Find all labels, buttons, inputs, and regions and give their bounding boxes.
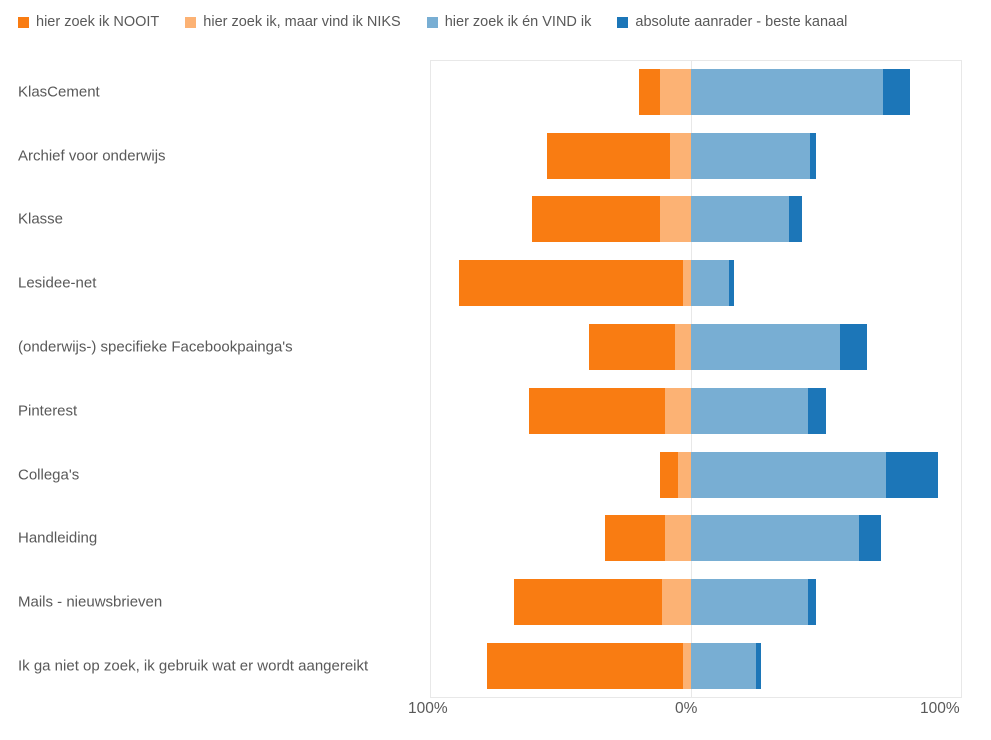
bar-row: Archief voor onderwijs <box>0 124 991 188</box>
bar-row: Mails - nieuwsbrieven <box>0 570 991 634</box>
bar-row: Ik ga niet op zoek, ik gebruik wat er wo… <box>0 634 991 698</box>
bar-segment[interactable] <box>691 324 840 370</box>
bar-segment[interactable] <box>660 69 691 115</box>
stacked-bar[interactable] <box>459 260 735 306</box>
x-axis: 100% 0% 100% <box>0 700 991 734</box>
legend-item-label: hier zoek ik, maar vind ik NIKS <box>203 15 400 30</box>
legend-item-label: hier zoek ik én VIND ik <box>445 15 592 30</box>
bar-segment[interactable] <box>691 388 808 434</box>
category-label: Handleiding <box>18 530 97 547</box>
bar-segment[interactable] <box>670 133 691 179</box>
category-label: Lesidee-net <box>18 275 96 292</box>
bar-segment[interactable] <box>808 579 816 625</box>
bar-segment[interactable] <box>665 388 691 434</box>
bar-row: Pinterest <box>0 379 991 443</box>
bar-segment[interactable] <box>639 69 660 115</box>
bar-segment[interactable] <box>840 324 867 370</box>
bar-segment[interactable] <box>691 133 810 179</box>
bar-segment[interactable] <box>691 515 859 561</box>
category-label: Mails - nieuwsbrieven <box>18 594 162 611</box>
bar-segment[interactable] <box>691 260 729 306</box>
legend-swatch-icon <box>617 17 628 28</box>
stacked-bar[interactable] <box>547 133 815 179</box>
bar-segment[interactable] <box>529 388 665 434</box>
bar-segment[interactable] <box>547 133 670 179</box>
bar-rows: KlasCementArchief voor onderwijsKlasseLe… <box>0 60 991 698</box>
axis-tick-right: 100% <box>920 700 960 718</box>
bar-segment[interactable] <box>665 515 691 561</box>
bar-segment[interactable] <box>756 643 761 689</box>
bar-row: KlasCement <box>0 60 991 124</box>
bar-segment[interactable] <box>729 260 734 306</box>
legend-item-label: hier zoek ik NOOIT <box>36 15 159 30</box>
bar-segment[interactable] <box>859 515 881 561</box>
bar-row: Lesidee-net <box>0 251 991 315</box>
category-label: KlasCement <box>18 83 100 100</box>
bar-row: Handleiding <box>0 507 991 571</box>
category-label: Archief voor onderwijs <box>18 147 166 164</box>
category-label: Ik ga niet op zoek, ik gebruik wat er wo… <box>18 658 368 675</box>
bar-segment[interactable] <box>808 388 827 434</box>
bar-segment[interactable] <box>691 196 789 242</box>
legend-item[interactable]: hier zoek ik, maar vind ik NIKS <box>185 15 400 30</box>
legend-swatch-icon <box>185 17 196 28</box>
bar-segment[interactable] <box>691 643 756 689</box>
bar-segment[interactable] <box>683 260 691 306</box>
legend-item[interactable]: hier zoek ik NOOIT <box>18 15 159 30</box>
bar-segment[interactable] <box>660 452 678 498</box>
bar-segment[interactable] <box>691 69 883 115</box>
stacked-bar[interactable] <box>605 515 881 561</box>
bar-segment[interactable] <box>487 643 683 689</box>
legend-item[interactable]: hier zoek ik én VIND ik <box>427 15 592 30</box>
legend-swatch-icon <box>18 17 29 28</box>
bar-segment[interactable] <box>810 133 815 179</box>
stacked-bar[interactable] <box>514 579 816 625</box>
bar-segment[interactable] <box>691 452 886 498</box>
bar-segment[interactable] <box>605 515 665 561</box>
stacked-bar[interactable] <box>639 69 911 115</box>
legend-swatch-icon <box>427 17 438 28</box>
stacked-bar[interactable] <box>532 196 802 242</box>
axis-tick-left: 100% <box>408 700 448 718</box>
stacked-bar[interactable] <box>529 388 826 434</box>
diverging-bar-chart: hier zoek ik NOOIThier zoek ik, maar vin… <box>0 0 991 740</box>
category-label: (onderwijs-) specifieke Facebookpainga's <box>18 339 293 356</box>
legend-item-label: absolute aanrader - beste kanaal <box>635 15 847 30</box>
bar-segment[interactable] <box>691 579 808 625</box>
bar-row: (onderwijs-) specifieke Facebookpainga's <box>0 315 991 379</box>
bar-segment[interactable] <box>514 579 663 625</box>
category-label: Collega's <box>18 466 79 483</box>
bar-segment[interactable] <box>678 452 691 498</box>
stacked-bar[interactable] <box>589 324 867 370</box>
bar-row: Klasse <box>0 188 991 252</box>
bar-segment[interactable] <box>662 579 691 625</box>
bar-segment[interactable] <box>789 196 803 242</box>
bar-segment[interactable] <box>589 324 675 370</box>
category-label: Klasse <box>18 211 63 228</box>
axis-tick-center: 0% <box>675 700 697 718</box>
legend-item[interactable]: absolute aanrader - beste kanaal <box>617 15 847 30</box>
bar-segment[interactable] <box>675 324 691 370</box>
bar-segment[interactable] <box>883 69 910 115</box>
category-label: Pinterest <box>18 402 77 419</box>
bar-segment[interactable] <box>660 196 691 242</box>
bar-segment[interactable] <box>683 643 691 689</box>
bar-row: Collega's <box>0 443 991 507</box>
stacked-bar[interactable] <box>660 452 938 498</box>
bar-segment[interactable] <box>886 452 937 498</box>
bar-segment[interactable] <box>459 260 683 306</box>
stacked-bar[interactable] <box>487 643 761 689</box>
chart-legend: hier zoek ik NOOIThier zoek ik, maar vin… <box>0 0 991 44</box>
bar-segment[interactable] <box>532 196 660 242</box>
